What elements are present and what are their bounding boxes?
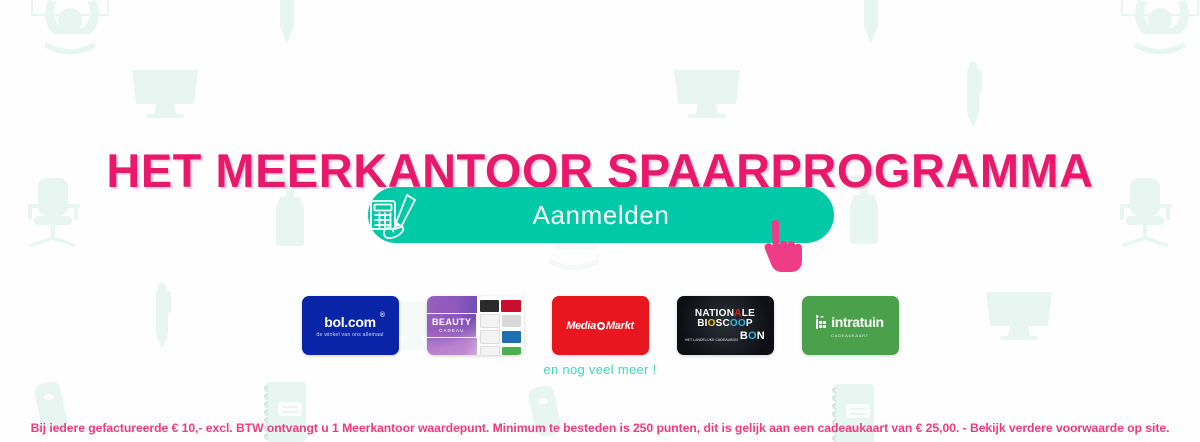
aanmelden-button[interactable]: Aanmelden — [368, 187, 834, 243]
beauty-brand-line2: CADEAU — [432, 329, 471, 334]
more-cards-text: en nog veel meer ! — [0, 362, 1200, 377]
beauty-logo-frame: BEAUTY CADEAU — [427, 313, 478, 339]
bioscoop-small-text: HET LANDELIJKE CADEAUBON — [685, 338, 738, 342]
mediamarkt-word-1: Media — [566, 320, 596, 332]
giftcard-intratuin[interactable]: intratuin CADEAUKAART — [802, 296, 899, 355]
intratuin-sub-label: CADEAUKAART — [831, 333, 869, 338]
partner-logo-icon — [501, 300, 520, 312]
partner-logo-icon — [480, 346, 500, 355]
bioscoop-line-3: HET LANDELIJKE CADEAUBON BON — [685, 331, 765, 343]
cta-container: Aanmelden — [368, 187, 834, 243]
giftcard-tagline: de winkel van ons allemaal — [316, 332, 383, 338]
partner-logo-icon — [502, 331, 520, 343]
aanmelden-button-label: Aanmelden — [533, 200, 670, 231]
registered-mark-icon: ® — [380, 312, 385, 319]
giftcard-brand-label: bol.com® — [324, 314, 376, 330]
logo-row — [480, 300, 521, 312]
beauty-partner-logos — [477, 296, 524, 355]
mediamarkt-word-2: Markt — [606, 320, 634, 332]
intratuin-logo: intratuin — [816, 314, 883, 330]
giftcard-beauty-cadeau[interactable]: BEAUTY CADEAU — [427, 296, 524, 355]
mediamarkt-dot-icon — [597, 322, 605, 330]
mediamarkt-logo: Media Markt — [566, 320, 634, 332]
partner-logo-icon — [502, 315, 520, 327]
logo-row — [480, 314, 521, 328]
intratuin-mark-icon — [816, 315, 829, 329]
disclaimer-text: Bij iedere gefactureerde € 10,- excl. BT… — [0, 421, 1200, 435]
beauty-watercolor-art: BEAUTY CADEAU — [427, 296, 477, 355]
bioscoop-bon-word: BON — [740, 331, 765, 343]
logo-row — [480, 330, 521, 344]
partner-logo-icon — [480, 314, 500, 328]
giftcard-bol-com[interactable]: bol.com® de winkel van ons allemaal — [302, 296, 399, 355]
giftcard-list: bol.com® de winkel van ons allemaal BEAU… — [0, 296, 1200, 355]
giftcard-mediamarkt[interactable]: Media Markt — [552, 296, 649, 355]
intratuin-wordmark: intratuin — [831, 314, 883, 330]
beauty-brand-line1: BEAUTY — [432, 318, 471, 327]
partner-logo-icon — [502, 347, 520, 355]
giftcard-nationale-bioscoopbon[interactable]: NATIONALE BIOSCOOP HET LANDELIJKE CADEAU… — [677, 296, 774, 355]
partner-logo-icon — [480, 330, 500, 344]
logo-row — [480, 346, 521, 355]
bioscoop-line-2: BIOSCOOP — [697, 319, 753, 330]
spaarprogramma-banner: HET MEERKANTOOR SPAARPROGRAMMA Aanmelden — [0, 0, 1200, 442]
partner-logo-icon — [480, 300, 499, 312]
